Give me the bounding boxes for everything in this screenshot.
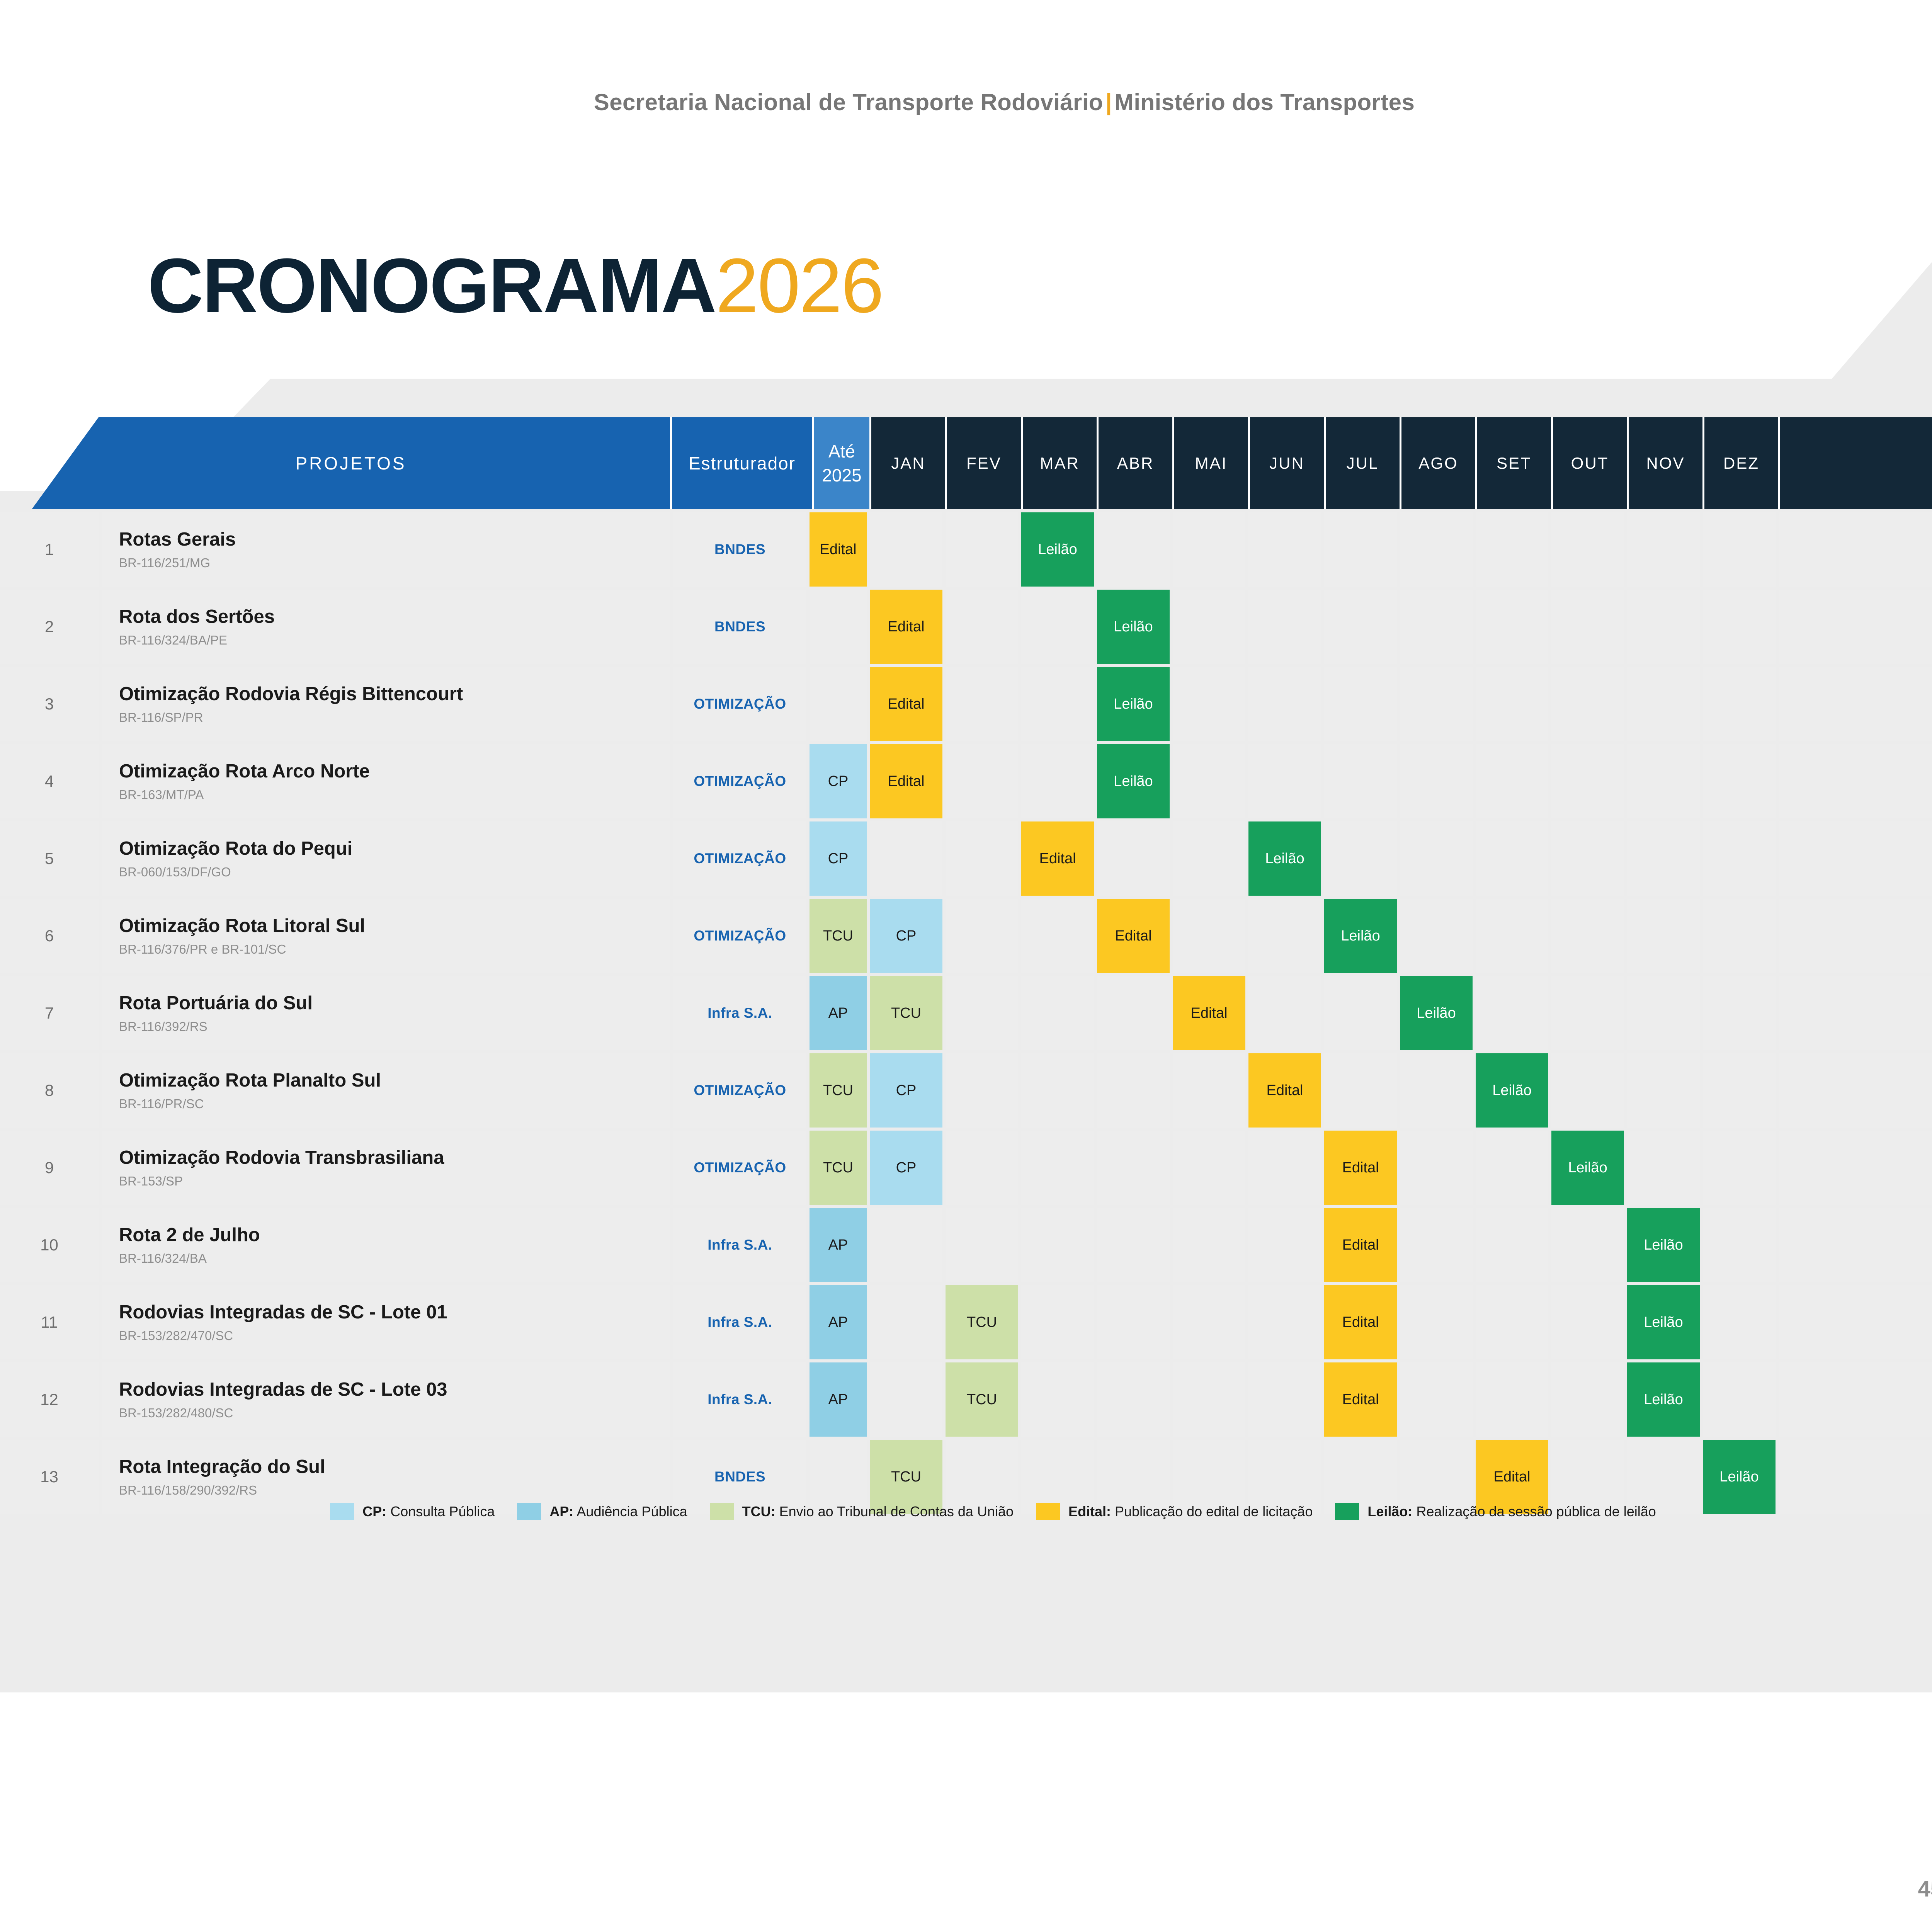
cell-mai[interactable] <box>1173 1362 1245 1437</box>
row-estruturador[interactable]: Infra S.A. <box>673 1285 806 1359</box>
cell-fev[interactable] <box>946 976 1018 1050</box>
cell-jun[interactable]: Leilão <box>1248 821 1321 896</box>
cell-ate-2025[interactable]: AP <box>810 976 867 1050</box>
cell-out[interactable] <box>1551 1208 1624 1282</box>
cell-set[interactable] <box>1476 899 1548 973</box>
cell-abr[interactable] <box>1097 1131 1170 1205</box>
header-month-jan[interactable]: JAN <box>869 417 945 509</box>
cell-out[interactable] <box>1551 1362 1624 1437</box>
cell-fev[interactable] <box>946 821 1018 896</box>
cell-jul[interactable] <box>1324 744 1397 818</box>
cell-out[interactable] <box>1551 899 1624 973</box>
legend-swatch-icon <box>1036 1503 1060 1520</box>
header-ate-2025[interactable]: Até2025 <box>812 417 869 509</box>
cell-set[interactable] <box>1476 1362 1548 1437</box>
cell-jun[interactable] <box>1248 744 1321 818</box>
project-code: BR-116/SP/PR <box>119 711 670 724</box>
cell-jun[interactable] <box>1248 976 1321 1050</box>
table-body: 1Rotas GeraisBR-116/251/MGBNDESEditalLei… <box>0 512 1932 1514</box>
cell-jun[interactable] <box>1248 1362 1321 1437</box>
project-code: BR-153/282/470/SC <box>119 1329 670 1343</box>
row-project[interactable]: Rota dos SertõesBR-116/324/BA/PE <box>102 590 670 664</box>
cell-jun[interactable] <box>1248 1131 1321 1205</box>
row-project[interactable]: Rodovias Integradas de SC - Lote 01BR-15… <box>102 1285 670 1359</box>
cell-dez[interactable] <box>1703 512 1776 587</box>
page-title-year: 2026 <box>716 243 883 329</box>
legend-swatch-icon <box>517 1503 541 1520</box>
cell-out[interactable] <box>1551 821 1624 896</box>
cell-trailing <box>1779 1362 1932 1437</box>
cell-ate-2025[interactable]: AP <box>810 1285 867 1359</box>
cell-ate-2025[interactable]: TCU <box>810 899 867 973</box>
cell-mai[interactable]: Edital <box>1173 976 1245 1050</box>
cell-mar[interactable] <box>1021 976 1094 1050</box>
row-number: 4 <box>0 744 99 818</box>
cell-trailing <box>1779 899 1932 973</box>
row-project[interactable]: Otimização Rota Litoral SulBR-116/376/PR… <box>102 899 670 973</box>
cell-jan[interactable]: Edital <box>870 590 942 664</box>
cell-jul[interactable]: Edital <box>1324 1131 1397 1205</box>
cell-dez[interactable] <box>1703 976 1776 1050</box>
table-row[interactable]: 11Rodovias Integradas de SC - Lote 01BR-… <box>0 1285 1932 1359</box>
project-name: Otimização Rota do Pequi <box>119 838 670 860</box>
cell-trailing <box>1779 1131 1932 1205</box>
row-estruturador[interactable]: Infra S.A. <box>673 976 806 1050</box>
cell-dez[interactable] <box>1703 744 1776 818</box>
header-left-text: Secretaria Nacional de Transporte Rodovi… <box>594 89 1103 115</box>
cell-jan[interactable]: Edital <box>870 744 942 818</box>
cell-jul[interactable] <box>1324 821 1397 896</box>
cell-trailing <box>1779 590 1932 664</box>
header-trailing-cell <box>1778 417 1932 509</box>
cell-jan[interactable]: CP <box>870 1131 942 1205</box>
cell-nov[interactable] <box>1627 744 1700 818</box>
project-code: BR-153/SP <box>119 1174 670 1188</box>
cell-dez[interactable] <box>1703 1053 1776 1128</box>
table-row[interactable]: 8Otimização Rota Planalto SulBR-116/PR/S… <box>0 1053 1932 1128</box>
row-number: 3 <box>0 667 99 741</box>
cell-mar[interactable] <box>1021 1208 1094 1282</box>
row-project[interactable]: Otimização Rota do PequiBR-060/153/DF/GO <box>102 821 670 896</box>
project-name: Otimização Rota Litoral Sul <box>119 915 670 937</box>
cell-fev[interactable] <box>946 1131 1018 1205</box>
table-row[interactable]: 10Rota 2 de JulhoBR-116/324/BAInfra S.A.… <box>0 1208 1932 1282</box>
header-month-mai[interactable]: MAI <box>1172 417 1248 509</box>
cell-jun[interactable] <box>1248 590 1321 664</box>
cell-nov[interactable] <box>1627 590 1700 664</box>
legend-text: Edital: Publicação do edital de licitaçã… <box>1068 1503 1313 1520</box>
cell-trailing <box>1779 667 1932 741</box>
cell-mar[interactable] <box>1021 1285 1094 1359</box>
row-estruturador[interactable]: OTIMIZAÇÃO <box>673 744 806 818</box>
cell-mai[interactable] <box>1173 590 1245 664</box>
header-right-text: Ministério dos Transportes <box>1114 89 1415 115</box>
cell-dez[interactable] <box>1703 1285 1776 1359</box>
cell-mai[interactable] <box>1173 744 1245 818</box>
cell-out[interactable]: Leilão <box>1551 1131 1624 1205</box>
cell-mai[interactable] <box>1173 1131 1245 1205</box>
cell-mar[interactable]: Leilão <box>1021 512 1094 587</box>
project-code: BR-116/251/MG <box>119 556 670 570</box>
cell-mar[interactable] <box>1021 899 1094 973</box>
row-project[interactable]: Rotas GeraisBR-116/251/MG <box>102 512 670 587</box>
row-number: 8 <box>0 1053 99 1128</box>
project-name: Otimização Rodovia Régis Bittencourt <box>119 683 670 706</box>
table-row[interactable]: 1Rotas GeraisBR-116/251/MGBNDESEditalLei… <box>0 512 1932 587</box>
header-month-label: SET <box>1497 454 1532 473</box>
row-number: 5 <box>0 821 99 896</box>
table-row[interactable]: 9Otimização Rodovia TransbrasilianaBR-15… <box>0 1131 1932 1205</box>
cell-out[interactable] <box>1551 590 1624 664</box>
cell-ago[interactable] <box>1400 590 1473 664</box>
legend-item-ap[interactable]: AP: Audiência Pública <box>517 1503 687 1520</box>
cell-jan[interactable]: Edital <box>870 667 942 741</box>
cell-ago[interactable] <box>1400 821 1473 896</box>
project-code: BR-163/MT/PA <box>119 788 670 802</box>
row-project[interactable]: Rota Portuária do SulBR-116/392/RS <box>102 976 670 1050</box>
cell-abr[interactable]: Leilão <box>1097 590 1170 664</box>
cell-jun[interactable] <box>1248 1208 1321 1282</box>
document-header: Secretaria Nacional de Transporte Rodovi… <box>0 89 1932 116</box>
cell-set[interactable]: Leilão <box>1476 1053 1548 1128</box>
header-month-label: MAI <box>1195 454 1228 473</box>
legend-text: Leilão: Realização da sessão pública de … <box>1367 1503 1656 1520</box>
cell-jan[interactable]: CP <box>870 899 942 973</box>
cell-abr[interactable]: Edital <box>1097 899 1170 973</box>
cell-abr[interactable] <box>1097 1285 1170 1359</box>
cell-fev[interactable] <box>946 1053 1018 1128</box>
cell-dez[interactable] <box>1703 667 1776 741</box>
cell-fev[interactable] <box>946 667 1018 741</box>
cell-abr[interactable] <box>1097 1362 1170 1437</box>
header-month-out[interactable]: OUT <box>1551 417 1627 509</box>
cell-ate-2025[interactable]: AP <box>810 1208 867 1282</box>
row-project[interactable]: Otimização Rodovia Régis BittencourtBR-1… <box>102 667 670 741</box>
header-month-dez[interactable]: DEZ <box>1702 417 1778 509</box>
row-number: 2 <box>0 590 99 664</box>
legend: CP: Consulta PúblicaAP: Audiência Públic… <box>0 1503 1932 1520</box>
cell-set[interactable] <box>1476 1285 1548 1359</box>
cell-jun[interactable] <box>1248 667 1321 741</box>
cell-nov[interactable]: Leilão <box>1627 1285 1700 1359</box>
cell-ago[interactable] <box>1400 1208 1473 1282</box>
cell-jul[interactable]: Edital <box>1324 1362 1397 1437</box>
cell-jan[interactable] <box>870 512 942 587</box>
cell-jul[interactable] <box>1324 667 1397 741</box>
cell-jul[interactable] <box>1324 590 1397 664</box>
cell-ate-2025[interactable]: TCU <box>810 1053 867 1128</box>
row-number: 1 <box>0 512 99 587</box>
cell-out[interactable] <box>1551 667 1624 741</box>
cell-abr[interactable] <box>1097 821 1170 896</box>
cell-dez[interactable] <box>1703 1362 1776 1437</box>
cell-set[interactable] <box>1476 821 1548 896</box>
cell-mar[interactable] <box>1021 1362 1094 1437</box>
cell-trailing <box>1779 1208 1932 1282</box>
header-month-label: DEZ <box>1723 454 1759 473</box>
cell-jul[interactable] <box>1324 976 1397 1050</box>
cell-mai[interactable] <box>1173 1285 1245 1359</box>
cell-ago[interactable]: Leilão <box>1400 976 1473 1050</box>
cell-jan[interactable] <box>870 1362 942 1437</box>
legend-text: CP: Consulta Pública <box>362 1503 495 1520</box>
legend-swatch-icon <box>1335 1503 1359 1520</box>
cell-fev[interactable] <box>946 899 1018 973</box>
cell-mar[interactable] <box>1021 667 1094 741</box>
header-month-label: OUT <box>1571 454 1609 473</box>
cell-mai[interactable] <box>1173 667 1245 741</box>
project-name: Otimização Rodovia Transbrasiliana <box>119 1147 670 1169</box>
cell-abr[interactable] <box>1097 512 1170 587</box>
row-estruturador[interactable]: OTIMIZAÇÃO <box>673 1053 806 1128</box>
cell-mai[interactable] <box>1173 512 1245 587</box>
cell-out[interactable] <box>1551 744 1624 818</box>
cell-nov[interactable] <box>1627 667 1700 741</box>
cell-fev[interactable]: TCU <box>946 1362 1018 1437</box>
header-month-mar[interactable]: MAR <box>1021 417 1097 509</box>
legend-text: AP: Audiência Pública <box>549 1503 687 1520</box>
cell-nov[interactable]: Leilão <box>1627 1208 1700 1282</box>
row-estruturador[interactable]: OTIMIZAÇÃO <box>673 821 806 896</box>
project-name: Otimização Rota Arco Norte <box>119 760 670 783</box>
row-number: 10 <box>0 1208 99 1282</box>
cell-dez[interactable] <box>1703 1208 1776 1282</box>
schedule-table: PROJETOSEstruturadorAté2025JANFEVMARABRM… <box>0 417 1932 1517</box>
cell-out[interactable] <box>1551 512 1624 587</box>
header-month-jun[interactable]: JUN <box>1248 417 1324 509</box>
cell-nov[interactable] <box>1627 1131 1700 1205</box>
cell-ago[interactable] <box>1400 744 1473 818</box>
cell-jan[interactable] <box>870 1285 942 1359</box>
cell-ate-2025[interactable]: AP <box>810 1362 867 1437</box>
cell-fev[interactable]: TCU <box>946 1285 1018 1359</box>
cell-jul[interactable]: Edital <box>1324 1208 1397 1282</box>
cell-jan[interactable]: TCU <box>870 976 942 1050</box>
row-project[interactable]: Otimização Rota Arco NorteBR-163/MT/PA <box>102 744 670 818</box>
cell-set[interactable] <box>1476 744 1548 818</box>
row-estruturador[interactable]: BNDES <box>673 590 806 664</box>
project-name: Rodovias Integradas de SC - Lote 03 <box>119 1379 670 1401</box>
legend-swatch-icon <box>710 1503 734 1520</box>
cell-abr[interactable] <box>1097 1053 1170 1128</box>
cell-ago[interactable] <box>1400 1362 1473 1437</box>
cell-set[interactable] <box>1476 590 1548 664</box>
legend-text: TCU: Envio ao Tribunal de Contas da Uniã… <box>742 1503 1014 1520</box>
header-month-fev[interactable]: FEV <box>945 417 1021 509</box>
header-month-nov[interactable]: NOV <box>1627 417 1702 509</box>
header-month-label: JUN <box>1269 454 1304 473</box>
project-code: BR-116/324/BA/PE <box>119 633 670 647</box>
cell-mar[interactable] <box>1021 590 1094 664</box>
cell-abr[interactable]: Leilão <box>1097 667 1170 741</box>
legend-item-tcu[interactable]: TCU: Envio ao Tribunal de Contas da Uniã… <box>710 1503 1014 1520</box>
page-number: 45 <box>1918 1876 1932 1902</box>
header-month-label: MAR <box>1040 454 1079 473</box>
cell-dez[interactable] <box>1703 1131 1776 1205</box>
row-estruturador[interactable]: BNDES <box>673 512 806 587</box>
cell-out[interactable] <box>1551 1285 1624 1359</box>
cell-trailing <box>1779 1285 1932 1359</box>
cell-nov[interactable] <box>1627 899 1700 973</box>
cell-ate-2025[interactable]: CP <box>810 821 867 896</box>
header-month-label: FEV <box>966 454 1002 473</box>
cell-ate-2025[interactable]: CP <box>810 744 867 818</box>
row-project[interactable]: Rota 2 de JulhoBR-116/324/BA <box>102 1208 670 1282</box>
cell-ago[interactable] <box>1400 1131 1473 1205</box>
cell-trailing <box>1779 512 1932 587</box>
header-month-label: JUL <box>1347 454 1379 473</box>
cell-dez[interactable] <box>1703 899 1776 973</box>
cell-set[interactable] <box>1476 1208 1548 1282</box>
cell-abr[interactable] <box>1097 1208 1170 1282</box>
project-code: BR-116/392/RS <box>119 1020 670 1034</box>
cell-ate-2025[interactable]: Edital <box>810 512 867 587</box>
cell-trailing <box>1779 976 1932 1050</box>
cell-jul[interactable]: Edital <box>1324 1285 1397 1359</box>
cell-jun[interactable] <box>1248 512 1321 587</box>
table-row[interactable]: 12Rodovias Integradas de SC - Lote 03BR-… <box>0 1362 1932 1437</box>
table-row[interactable]: 3Otimização Rodovia Régis BittencourtBR-… <box>0 667 1932 741</box>
cell-jun[interactable] <box>1248 899 1321 973</box>
project-code: BR-116/324/BA <box>119 1252 670 1265</box>
cell-jan[interactable] <box>870 821 942 896</box>
cell-ago[interactable] <box>1400 1053 1473 1128</box>
cell-ago[interactable] <box>1400 1285 1473 1359</box>
cell-nov[interactable]: Leilão <box>1627 1362 1700 1437</box>
row-estruturador[interactable]: OTIMIZAÇÃO <box>673 667 806 741</box>
cell-ago[interactable] <box>1400 512 1473 587</box>
table-row[interactable]: 6Otimização Rota Litoral SulBR-116/376/P… <box>0 899 1932 973</box>
project-name: Rota 2 de Julho <box>119 1224 670 1247</box>
cell-out[interactable] <box>1551 1053 1624 1128</box>
cell-jul[interactable]: Leilão <box>1324 899 1397 973</box>
header-ate-line2: 2025 <box>822 463 861 487</box>
header-projetos-label: PROJETOS <box>295 453 406 474</box>
table-row[interactable]: 5Otimização Rota do PequiBR-060/153/DF/G… <box>0 821 1932 896</box>
cell-trailing <box>1779 744 1932 818</box>
cell-nov[interactable] <box>1627 512 1700 587</box>
cell-mar[interactable] <box>1021 1053 1094 1128</box>
cell-out[interactable] <box>1551 976 1624 1050</box>
row-estruturador[interactable]: Infra S.A. <box>673 1208 806 1282</box>
project-name: Rota dos Sertões <box>119 606 670 628</box>
project-code: BR-116/376/PR e BR-101/SC <box>119 942 670 956</box>
row-number: 6 <box>0 899 99 973</box>
cell-fev[interactable] <box>946 590 1018 664</box>
row-project[interactable]: Otimização Rota Planalto SulBR-116/PR/SC <box>102 1053 670 1128</box>
cell-nov[interactable] <box>1627 976 1700 1050</box>
cell-dez[interactable] <box>1703 821 1776 896</box>
project-code: BR-116/158/290/392/RS <box>119 1483 670 1497</box>
cell-nov[interactable] <box>1627 821 1700 896</box>
header-projetos[interactable]: PROJETOS <box>32 417 670 509</box>
cell-jan[interactable]: CP <box>870 1053 942 1128</box>
header-month-abr[interactable]: ABR <box>1097 417 1172 509</box>
header-month-ago[interactable]: AGO <box>1400 417 1475 509</box>
table-row[interactable]: 4Otimização Rota Arco NorteBR-163/MT/PAO… <box>0 744 1932 818</box>
legend-item-edital[interactable]: Edital: Publicação do edital de licitaçã… <box>1036 1503 1313 1520</box>
row-number: 7 <box>0 976 99 1050</box>
legend-item-cp[interactable]: CP: Consulta Pública <box>330 1503 495 1520</box>
cell-mai[interactable] <box>1173 1053 1245 1128</box>
cell-ate-2025[interactable] <box>810 667 867 741</box>
cell-jan[interactable] <box>870 1208 942 1282</box>
cell-fev[interactable] <box>946 744 1018 818</box>
header-month-jul[interactable]: JUL <box>1324 417 1400 509</box>
cell-fev[interactable] <box>946 512 1018 587</box>
row-project[interactable]: Rodovias Integradas de SC - Lote 03BR-15… <box>102 1362 670 1437</box>
cell-set[interactable] <box>1476 667 1548 741</box>
project-code: BR-153/282/480/SC <box>119 1406 670 1420</box>
legend-item-leilao[interactable]: Leilão: Realização da sessão pública de … <box>1335 1503 1656 1520</box>
cell-mai[interactable] <box>1173 1208 1245 1282</box>
cell-ate-2025[interactable] <box>810 590 867 664</box>
cell-fev[interactable] <box>946 1208 1018 1282</box>
row-number: 9 <box>0 1131 99 1205</box>
cell-mar[interactable] <box>1021 744 1094 818</box>
project-name: Rotas Gerais <box>119 529 670 551</box>
cell-abr[interactable]: Leilão <box>1097 744 1170 818</box>
header-month-label: JAN <box>891 454 925 473</box>
project-name: Rota Portuária do Sul <box>119 992 670 1015</box>
project-code: BR-060/153/DF/GO <box>119 865 670 879</box>
cell-mar[interactable]: Edital <box>1021 821 1094 896</box>
legend-swatch-icon <box>330 1503 354 1520</box>
cell-jun[interactable]: Edital <box>1248 1053 1321 1128</box>
row-estruturador[interactable]: OTIMIZAÇÃO <box>673 899 806 973</box>
row-number: 12 <box>0 1362 99 1437</box>
page-title: CRONOGRAMA2026 <box>148 247 883 325</box>
row-project[interactable]: Otimização Rodovia TransbrasilianaBR-153… <box>102 1131 670 1205</box>
row-estruturador[interactable]: OTIMIZAÇÃO <box>673 1131 806 1205</box>
cell-trailing <box>1779 821 1932 896</box>
project-code: BR-116/PR/SC <box>119 1097 670 1111</box>
cell-mar[interactable] <box>1021 1131 1094 1205</box>
header-separator: | <box>1103 89 1114 115</box>
page-title-main: CRONOGRAMA <box>148 243 716 329</box>
header-ate-line1: Até <box>828 439 855 463</box>
header-estruturador[interactable]: Estruturador <box>670 417 812 509</box>
cell-ago[interactable] <box>1400 667 1473 741</box>
row-number: 11 <box>0 1285 99 1359</box>
project-name: Rodovias Integradas de SC - Lote 01 <box>119 1301 670 1324</box>
table-header-row: PROJETOSEstruturadorAté2025JANFEVMARABRM… <box>0 417 1932 509</box>
cell-nov[interactable] <box>1627 1053 1700 1128</box>
header-month-label: NOV <box>1646 454 1685 473</box>
cell-set[interactable] <box>1476 976 1548 1050</box>
table-row[interactable]: 7Rota Portuária do SulBR-116/392/RSInfra… <box>0 976 1932 1050</box>
cell-trailing <box>1779 1053 1932 1128</box>
cell-jul[interactable] <box>1324 1053 1397 1128</box>
cell-abr[interactable] <box>1097 976 1170 1050</box>
header-estruturador-label: Estruturador <box>689 453 796 474</box>
cell-set[interactable] <box>1476 512 1548 587</box>
header-month-label: AGO <box>1418 454 1458 473</box>
cell-ago[interactable] <box>1400 899 1473 973</box>
cell-set[interactable] <box>1476 1131 1548 1205</box>
cell-jun[interactable] <box>1248 1285 1321 1359</box>
project-name: Otimização Rota Planalto Sul <box>119 1070 670 1092</box>
row-estruturador[interactable]: Infra S.A. <box>673 1362 806 1437</box>
header-month-set[interactable]: SET <box>1475 417 1551 509</box>
project-name: Rota Integração do Sul <box>119 1456 670 1478</box>
cell-jul[interactable] <box>1324 512 1397 587</box>
table-row[interactable]: 2Rota dos SertõesBR-116/324/BA/PEBNDESEd… <box>0 590 1932 664</box>
cell-ate-2025[interactable]: TCU <box>810 1131 867 1205</box>
cell-mai[interactable] <box>1173 821 1245 896</box>
cell-dez[interactable] <box>1703 590 1776 664</box>
cell-mai[interactable] <box>1173 899 1245 973</box>
